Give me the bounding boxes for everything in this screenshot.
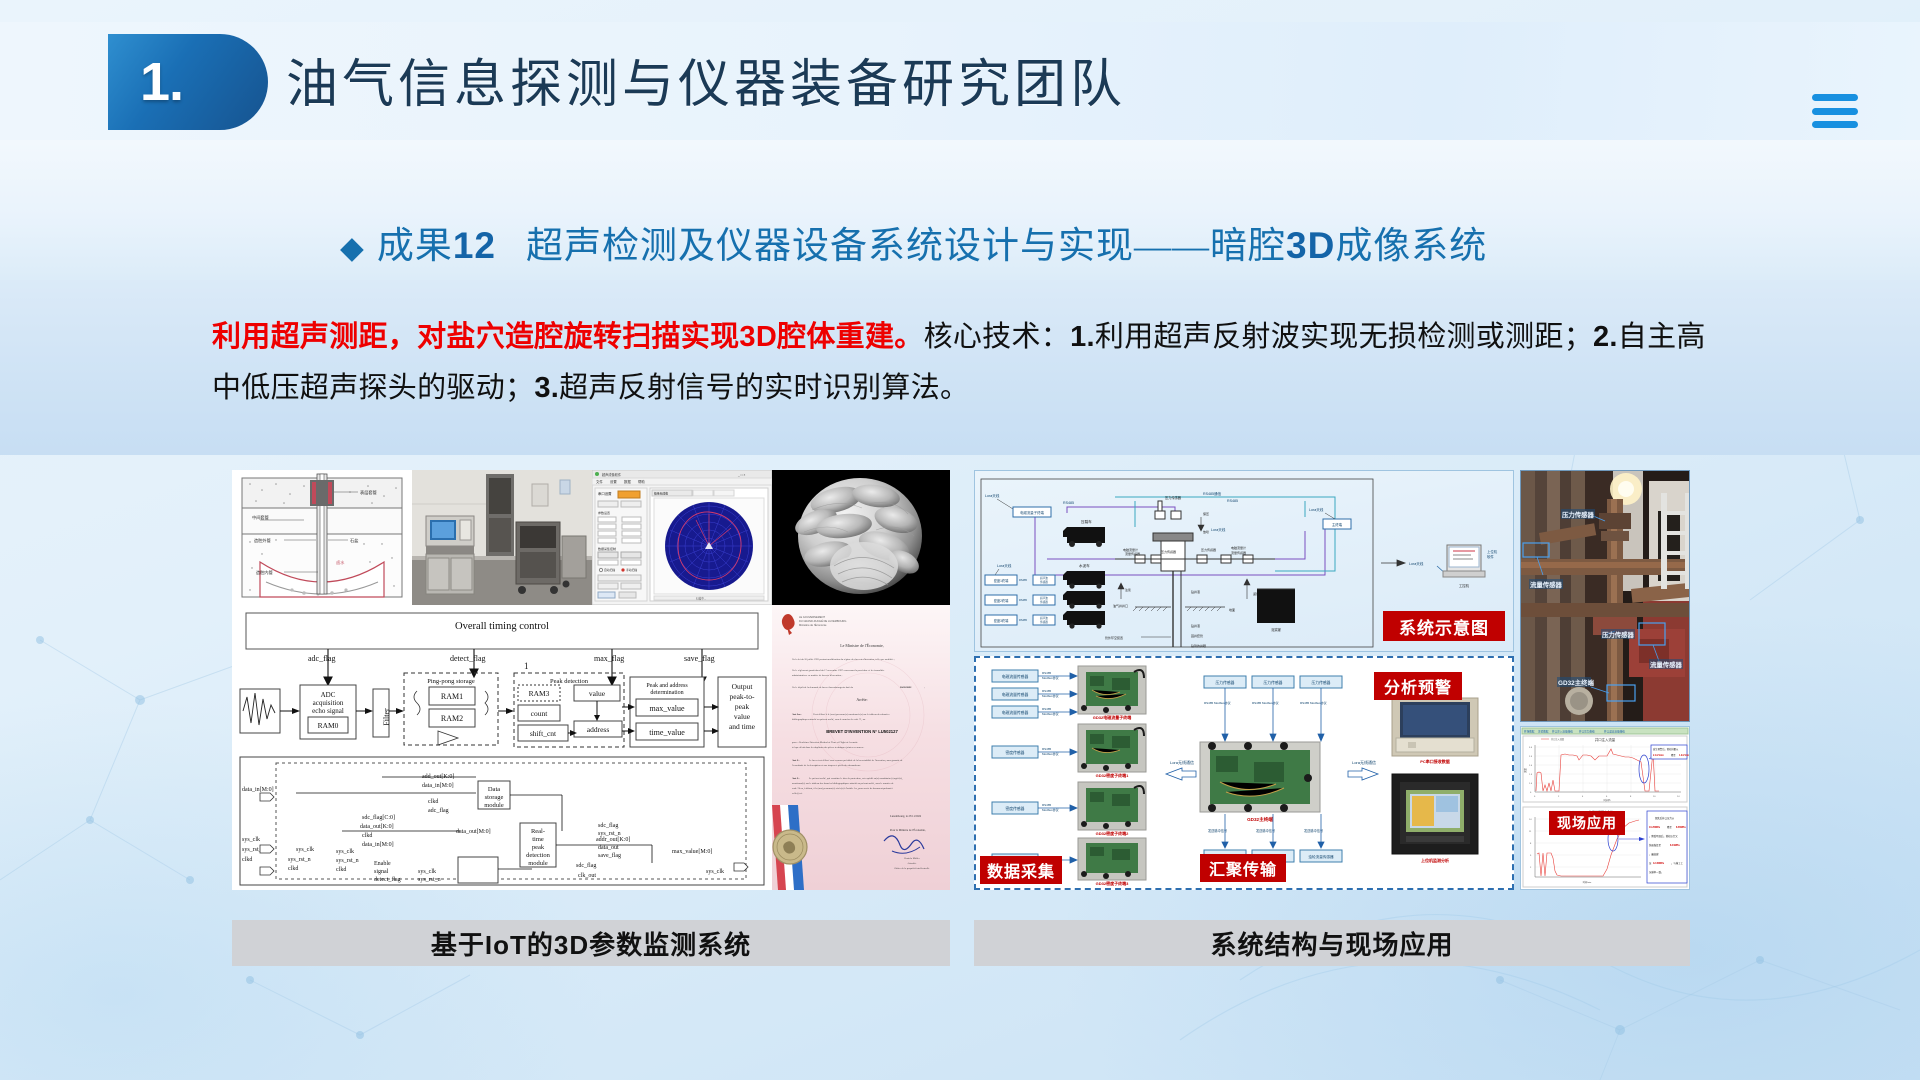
svg-text:数据采集控制: 数据采集控制 — [598, 546, 616, 551]
subtitle-label-number: 12 — [453, 225, 496, 266]
svg-text:密度1终端: 密度1终端 — [994, 578, 1009, 583]
svg-text:peak: peak — [532, 844, 545, 851]
svg-text:sys_rst_n: sys_rst_n — [418, 877, 441, 883]
svg-text:max_value: max_value — [649, 704, 685, 713]
svg-text:，降低明显后，管柱压力又: ，降低明显后，管柱压力又 — [1649, 834, 1678, 838]
svg-text:传感器: 传感器 — [1040, 620, 1048, 624]
svg-text:注浆数据: 注浆数据 — [1538, 730, 1549, 734]
page-title: 油气信息探测与仪器装备研究团队 — [286, 42, 1126, 117]
svg-text:tel que décrit dans les duplic: tel que décrit dans les duplicata des pi… — [792, 746, 865, 749]
svg-text:中间套管: 中间套管 — [252, 514, 269, 521]
svg-text:保压: 保压 — [1203, 511, 1209, 516]
svg-text:Attachée: Attachée — [908, 862, 918, 865]
scanning-software-polar-plot: 超声成像软件 _ □ × 文件设置数据帮助 串口设置 参数设置 — [592, 470, 772, 605]
svg-text:value: value — [589, 689, 606, 698]
svg-text:密度传感器: 密度传感器 — [1006, 806, 1025, 811]
svg-text:Daniela Müller: Daniela Müller — [904, 857, 919, 860]
svg-text:流量传感器: 流量传感器 — [1231, 550, 1246, 555]
svg-text:data_in[M:0]: data_in[M:0] — [242, 787, 274, 793]
svg-text:Output: Output — [732, 682, 754, 691]
svg-text:流量传感器: 流量传感器 — [1125, 551, 1140, 556]
svg-text:mentionné(s) sur le tableau de: mentionné(s) sur le tableau des données … — [792, 782, 894, 785]
svg-text:BREVET D'INVENTION N° LU502127: BREVET D'INVENTION N° LU502127 — [826, 729, 898, 734]
svg-text:压力传感器: 压力传感器 — [1562, 510, 1595, 519]
svg-text:RS485 Modbus协议: RS485 Modbus协议 — [1204, 700, 1231, 705]
left-panel-caption: 基于IoT的3D参数监测系统 — [232, 920, 950, 966]
svg-text:固井套管: 固井套管 — [1191, 633, 1203, 638]
svg-text:上位机: 上位机 — [1487, 549, 1498, 554]
subtitle-text-1: 超声检测及仪器设备系统设计与实现——暗腔 — [526, 226, 1286, 267]
svg-text:RS485: RS485 — [1019, 618, 1027, 622]
section-subtitle: ◆成果12超声检测及仪器设备系统设计与实现——暗腔3D成像系统 — [340, 215, 1487, 269]
svg-text:data_out[M:0]: data_out[M:0] — [456, 829, 491, 835]
svg-text:Lora无线通信: Lora无线通信 — [1170, 759, 1194, 765]
svg-text:文件: 文件 — [596, 479, 603, 484]
svg-text:storage: storage — [485, 794, 504, 801]
svg-text:RS485通信: RS485通信 — [1203, 491, 1222, 496]
svg-text:流量传感器: 流量传感器 — [1650, 660, 1683, 669]
svg-text:Ping-pong storage: Ping-pong storage — [427, 678, 475, 685]
system-schematic-diagram: Lora天线 RS485通信 RS485 RS485 Lora天线 电磁流量子终… — [974, 470, 1514, 652]
svg-text:泥浆罐: 泥浆罐 — [1271, 627, 1281, 632]
svg-text:况基本一致。: 况基本一致。 — [1649, 870, 1663, 874]
svg-text:clkd: clkd — [336, 867, 346, 873]
svg-text:RS485: RS485 — [1063, 501, 1074, 505]
right-panel-caption: 系统结构与现场应用 — [974, 920, 1690, 966]
svg-text:Lora天线: Lora天线 — [1409, 561, 1424, 566]
svg-text:密度3终端: 密度3终端 — [994, 618, 1009, 623]
svg-text:漏失后井口压力从: 漏失后井口压力从 — [1655, 816, 1675, 820]
svg-text:帮助: 帮助 — [638, 479, 645, 484]
svg-text:12.36MPa: 12.36MPa — [1653, 862, 1665, 865]
svg-text:sdc_flag[C:0]: sdc_flag[C:0] — [362, 814, 395, 821]
body-num-2: 2. — [1593, 321, 1618, 353]
svg-text:Vu le dépôt de la demande de b: Vu le dépôt de la demande de brevet luxe… — [792, 686, 854, 689]
svg-text:Real-: Real- — [531, 828, 545, 835]
lab-ultrasonic-test-rig-photo — [412, 470, 592, 605]
svg-text:count: count — [531, 709, 549, 718]
body-paragraph: 利用超声测距，对盐穴造腔旋转扫描实现3D腔体重建。核心技术：1.利用超声反射波实… — [212, 312, 1722, 414]
svg-text:RS485: RS485 — [1042, 689, 1052, 693]
svg-text:Data: Data — [488, 786, 500, 793]
body-num-3: 3. — [534, 372, 559, 404]
svg-text:sys_rst_n: sys_rst_n — [288, 857, 311, 863]
svg-text:max_value[M:0]: max_value[M:0] — [672, 849, 712, 855]
svg-text:time_value: time_value — [649, 728, 685, 737]
svg-text:determination: determination — [650, 690, 683, 696]
svg-text:bibliographiques attaché au pr: bibliographiques attaché au présent arrê… — [792, 718, 866, 721]
svg-text:油气井井口: 油气井井口 — [1113, 603, 1128, 608]
svg-text:电磁流量传感器: 电磁流量传感器 — [1002, 710, 1029, 715]
svg-text:Lora天线: Lora天线 — [997, 563, 1012, 568]
wellhead-field-photo: 压力传感器 流量传感器 压力传感器 流量传感器 GD32主终端 — [1520, 470, 1690, 722]
svg-text:RAM2: RAM2 — [441, 714, 463, 723]
svg-text:井口压力曲线: 井口压力曲线 — [1579, 730, 1595, 734]
svg-text:Peak detection: Peak detection — [550, 678, 589, 685]
svg-text:8.01MPa: 8.01MPa — [1670, 844, 1680, 847]
svg-text:module: module — [528, 860, 548, 867]
svg-text:acquisition: acquisition — [313, 699, 344, 707]
svg-text:value: value — [734, 712, 751, 721]
svg-text:Arrête:: Arrête: — [856, 697, 867, 702]
svg-text:电磁流量子终端: 电磁流量子终端 — [1020, 510, 1044, 515]
svg-text:超声波: 超声波 — [1040, 616, 1048, 620]
svg-text:sys_clk: sys_clk — [242, 837, 260, 843]
svg-text:电磁流量计: 电磁流量计 — [1231, 545, 1246, 550]
svg-text:快速恢复至: 快速恢复至 — [1649, 843, 1662, 847]
svg-text:Art. 1er.-: Art. 1er.- — [792, 713, 802, 716]
svg-text:sys_clk: sys_clk — [418, 869, 436, 875]
field-application-charts: 井场数据注浆数据 井口注入流量曲线井口压力曲线 井口返出流量曲线 井口注入流量 … — [1520, 726, 1690, 890]
section-number-badge: 1. — [108, 34, 268, 130]
svg-text:clkd: clkd — [428, 799, 438, 805]
svg-text:Art. 3.-: Art. 3.- — [792, 777, 800, 780]
svg-text:压力传感器: 压力传感器 — [1264, 680, 1283, 685]
svg-text:Lora无线通信: Lora无线通信 — [1352, 759, 1376, 765]
svg-text:GD32电磁流量子终端: GD32电磁流量子终端 — [1093, 714, 1131, 720]
svg-text:Il est délivré à le (aux) pers: Il est délivré à le (aux) personne(s) me… — [813, 713, 890, 716]
svg-text:time: time — [532, 836, 544, 843]
left-figure-panel: 表层套管 中间套管 造腔外管 石盐 造腔内管 卤水 — [232, 470, 950, 890]
svg-text:上位机监测分析: 上位机监测分析 — [1421, 857, 1449, 863]
svg-text:data_out: data_out — [598, 845, 619, 851]
hamburger-menu-icon[interactable] — [1812, 94, 1858, 128]
svg-text:RS485: RS485 — [1019, 578, 1027, 582]
fpga-block-diagram: Overall timing control adc_flag detect_f… — [232, 605, 772, 890]
svg-text:Peak and address: Peak and address — [646, 683, 688, 689]
svg-text:井口注入流量: 井口注入流量 — [1595, 737, 1616, 742]
svg-text:address: address — [587, 725, 610, 734]
svg-text:参数设置: 参数设置 — [598, 510, 610, 515]
svg-text:表层套管: 表层套管 — [360, 489, 377, 496]
body-num-1: 1. — [1070, 321, 1095, 353]
svg-text:卤水: 卤水 — [336, 559, 345, 566]
svg-text:钻到的井眼: 钻到的井眼 — [1191, 643, 1206, 648]
svg-text:超声成像软件: 超声成像软件 — [602, 472, 622, 477]
svg-text:Office de la propriété intelle: Office de la propriété intellectuelle — [895, 867, 931, 870]
svg-text:administratives en matière de: administratives en matière de brevets d'… — [792, 674, 843, 677]
svg-text:Enable: Enable — [374, 861, 391, 867]
svg-text:自动扫描: 自动扫描 — [604, 568, 615, 572]
svg-text:clk_out: clk_out — [578, 873, 596, 879]
svg-text:密度传感器: 密度传感器 — [1006, 750, 1025, 755]
svg-text:echo signal: echo signal — [312, 707, 344, 715]
svg-text:造腔内管: 造腔内管 — [256, 569, 273, 576]
svg-text:detection: detection — [526, 852, 551, 859]
svg-text:save_flag: save_flag — [684, 654, 715, 663]
svg-text:软件: 软件 — [1487, 554, 1494, 559]
svg-text:造腔外管: 造腔外管 — [254, 537, 271, 544]
svg-text:串口设置: 串口设置 — [598, 491, 612, 496]
svg-text:detect_flag: detect_flag — [450, 654, 486, 663]
svg-text:压力传感器: 压力传感器 — [1216, 680, 1235, 685]
svg-text:RAM3: RAM3 — [529, 689, 550, 698]
svg-text:Art. 2.-: Art. 2.- — [792, 759, 800, 762]
svg-text:clkd: clkd — [242, 857, 252, 863]
svg-text:数据: 数据 — [624, 479, 631, 484]
svg-text:max_flag: max_flag — [594, 654, 624, 663]
svg-text:时间/h: 时间/h — [1604, 798, 1611, 802]
charts-red-label-field-application: 现场应用 — [1549, 811, 1625, 835]
subtitle-text-2: 成像系统 — [1335, 226, 1487, 267]
svg-text:流量: 流量 — [1523, 768, 1527, 773]
patent-certificate-image: LE GOUVERNEMENT DU GRAND-DUCHÉ DE LUXEMB… — [772, 605, 950, 890]
svg-text:save_flag: save_flag — [598, 852, 621, 859]
svg-text:RS485: RS485 — [1042, 747, 1052, 751]
svg-text:RS485 Modbus协议: RS485 Modbus协议 — [1252, 700, 1279, 705]
svg-text:ADC: ADC — [321, 691, 336, 699]
svg-text:电磁流量传感器: 电磁流量传感器 — [1002, 674, 1029, 679]
acq-red-label-collect: 数据采集 — [980, 856, 1062, 884]
svg-text:GD32主终端: GD32主终端 — [1247, 816, 1273, 823]
svg-text:压力传感器: 压力传感器 — [1165, 495, 1182, 500]
salt-cavern-well-diagram: 表层套管 中间套管 造腔外管 石盐 造腔内管 卤水 — [232, 470, 412, 605]
svg-text:Lora天线: Lora天线 — [1309, 507, 1324, 512]
svg-text:adc_flag: adc_flag — [308, 654, 336, 663]
svg-text:注浆: 注浆 — [1125, 587, 1131, 592]
svg-text:addr_out[K:0]: addr_out[K:0] — [596, 837, 630, 843]
svg-text:RS485: RS485 — [1042, 707, 1052, 711]
svg-text:水泥车: 水泥车 — [1079, 563, 1090, 568]
svg-text:adc_flag: adc_flag — [428, 807, 449, 814]
svg-text:发送脉冲信号: 发送脉冲信号 — [1208, 828, 1227, 833]
svg-text:GD32密度子终端1: GD32密度子终端1 — [1096, 772, 1129, 778]
svg-text:sdc_flag: sdc_flag — [576, 862, 596, 869]
svg-text:10.25MPa: 10.25MPa — [1649, 826, 1661, 829]
svg-text:压裂车: 压裂车 — [1081, 519, 1092, 524]
svg-text:RS485: RS485 — [1227, 499, 1238, 503]
svg-text:8.65MPa: 8.65MPa — [1676, 826, 1686, 829]
body-rest-1: 核心技术： — [924, 321, 1071, 353]
svg-text:井口返出流量曲线: 井口返出流量曲线 — [1604, 730, 1625, 734]
svg-text:扫描中…: 扫描中… — [696, 597, 707, 601]
svg-text:极坐标成像: 极坐标成像 — [654, 492, 668, 496]
svg-text:压力传感器: 压力传感器 — [1161, 549, 1176, 554]
acq-red-label-transmit: 汇聚传输 — [1200, 854, 1286, 882]
svg-text:压力传感器: 压力传感器 — [1312, 680, 1331, 685]
svg-text:超声波: 超声波 — [1040, 596, 1048, 600]
svg-text:Vu le règlement grand-ducal du: Vu le règlement grand-ducal du 17 novemb… — [792, 669, 884, 672]
body-item-1: 利用超声反射波实现无损检测或测距； — [1095, 321, 1593, 353]
three-d-cavity-render — [772, 470, 950, 605]
svg-text:Pour le Ministre de l'Économie: Pour le Ministre de l'Économie, — [890, 829, 926, 832]
svg-text:module: module — [484, 802, 504, 809]
svg-text:钻井液: 钻井液 — [1191, 623, 1200, 628]
svg-text:data_in[M:0]: data_in[M:0] — [362, 842, 394, 848]
svg-text:传感器: 传感器 — [1040, 600, 1048, 604]
svg-text:RS485 Modbus协议: RS485 Modbus协议 — [1300, 700, 1327, 705]
svg-text:20/05/2022: 20/05/2022 — [900, 686, 912, 689]
svg-text:超声波: 超声波 — [1040, 576, 1048, 580]
diamond-bullet-icon: ◆ — [340, 230, 365, 265]
svg-text:sys_rst_n: sys_rst_n — [336, 858, 359, 864]
svg-text:降至: 降至 — [1667, 825, 1672, 829]
svg-text:shift_cnt: shift_cnt — [530, 729, 557, 738]
svg-text:sys_rst_n: sys_rst_n — [598, 831, 621, 837]
svg-text:GD32主终端: GD32主终端 — [1558, 678, 1594, 687]
schematic-red-label: 系统示意图 — [1383, 611, 1505, 641]
svg-text:GD32密度子终端3: GD32密度子终端3 — [1096, 880, 1129, 886]
svg-text:RAM1: RAM1 — [441, 692, 463, 701]
svg-text:，与施工工: ，与施工工 — [1671, 861, 1684, 865]
left-image-strip: 表层套管 中间套管 造腔外管 石盐 造腔内管 卤水 — [232, 470, 950, 605]
svg-text:LE GOUVERNEMENT: LE GOUVERNEMENT — [799, 615, 826, 619]
svg-text:传感器: 传感器 — [1040, 580, 1048, 584]
svg-text:pour « Real-time Detection Met: pour « Real-time Detection Method of Tim… — [792, 741, 858, 744]
svg-text:sys_clk: sys_clk — [296, 847, 314, 853]
svg-text:RAM0: RAM0 — [318, 721, 339, 730]
svg-text:手动扫描: 手动扫描 — [626, 568, 637, 572]
svg-text:code 74 ou, à défaut, à le (au: code 74 ou, à défaut, à le (aux) personn… — [792, 787, 894, 790]
slide-header: 1. 油气信息探测与仪器装备研究团队 — [0, 22, 1920, 140]
svg-text:管外环空装置: 管外环空装置 — [1105, 635, 1123, 640]
svg-text:Lora天线: Lora天线 — [1211, 527, 1226, 532]
svg-text:井场数据: 井场数据 — [1524, 730, 1535, 734]
svg-text:clkd: clkd — [362, 833, 372, 839]
section-number: 1. — [140, 55, 183, 109]
svg-text:signal: signal — [374, 869, 389, 875]
svg-text:井口注入流量曲线: 井口注入流量曲线 — [1552, 730, 1573, 734]
body-item-3: 超声反射信号的实时识别算法。 — [559, 372, 969, 404]
svg-text:1: 1 — [524, 661, 529, 671]
svg-text:l'exactitude de la description: l'exactitude de la description et aux ri… — [792, 764, 861, 767]
svg-text:主终端: 主终端 — [1332, 522, 1343, 527]
svg-text:sdc_flag: sdc_flag — [598, 822, 618, 829]
svg-text:and time: and time — [729, 722, 756, 731]
svg-text:Overall timing control: Overall timing control — [455, 621, 549, 632]
svg-text:放喷: 放喷 — [1203, 529, 1209, 534]
svg-text:钻井液: 钻井液 — [1191, 589, 1200, 594]
svg-text:data_out[K:0]: data_out[K:0] — [360, 824, 394, 830]
svg-text:浊轮流量传感器: 浊轮流量传感器 — [1308, 854, 1334, 859]
svg-text:sys_clk: sys_clk — [336, 849, 354, 855]
svg-text:_ □ ×: _ □ × — [737, 473, 745, 477]
svg-text:Le brevet est délivré sans exa: Le brevet est délivré sans examen préala… — [809, 759, 903, 762]
svg-text:data_in[M:0]: data_in[M:0] — [422, 783, 454, 789]
svg-text:地面: 地面 — [1229, 607, 1235, 612]
acq-red-label-analysis: 分析预警 — [1374, 672, 1462, 700]
svg-text:GD32密度子终端2: GD32密度子终端2 — [1096, 830, 1129, 836]
svg-text:流量传感器: 流量传感器 — [1530, 580, 1563, 589]
svg-text:RS485: RS485 — [1042, 803, 1052, 807]
svg-text:detect_flag: detect_flag — [374, 876, 401, 883]
subtitle-label-prefix: 成果 — [377, 226, 453, 267]
svg-text:Luxembourg, le 25/11/2022: Luxembourg, le 25/11/2022 — [890, 815, 922, 818]
svg-text:RS485: RS485 — [1042, 671, 1052, 675]
body-highlight: 利用超声测距，对盐穴造腔旋转扫描实现3D腔体重建。 — [212, 321, 924, 353]
svg-text:密度2终端: 密度2终端 — [994, 598, 1009, 603]
svg-text:peak-to-: peak-to- — [730, 692, 755, 701]
svg-text:工控机: 工控机 — [1459, 583, 1470, 588]
iot-acquisition-architecture-diagram: 电磁流量传感器 电磁流量传感器 电磁流量传感器 密度传感器 密度传感器 密度传感… — [974, 656, 1514, 890]
svg-text:sys_clk: sys_clk — [706, 869, 724, 875]
svg-text:，最高建: ，最高建 — [1649, 852, 1659, 856]
svg-text:设置: 设置 — [610, 479, 617, 484]
svg-text:电磁流量传感器: 电磁流量传感器 — [1002, 692, 1029, 697]
svg-text:石盐: 石盐 — [350, 537, 358, 544]
subtitle-text-bold: 3D — [1286, 225, 1335, 266]
svg-text:clkd: clkd — [288, 866, 298, 872]
svg-text:celle(s)-ci.: celle(s)-ci. — [792, 792, 803, 795]
svg-text:压力传感器: 压力传感器 — [1201, 547, 1216, 552]
svg-text:RS485: RS485 — [1019, 598, 1027, 602]
svg-text:Le présent arrêté, qui constit: Le présent arrêté, qui constitue le titr… — [809, 777, 903, 780]
svg-text:压力传感器: 压力传感器 — [1602, 630, 1635, 639]
svg-text:发送脉冲信号: 发送脉冲信号 — [1304, 828, 1323, 833]
right-figure-panel: Lora天线 RS485通信 RS485 RS485 Lora天线 电磁流量子终… — [974, 470, 1690, 890]
svg-text:Lora天线: Lora天线 — [985, 493, 1000, 498]
svg-text:PC串口接收数据: PC串口接收数据 — [1420, 758, 1450, 764]
svg-text:peak: peak — [735, 702, 749, 711]
svg-text:Vu la loi du 20 juillet 1992 p: Vu la loi du 20 juillet 1992 portant mod… — [792, 658, 895, 661]
svg-text:发送脉冲信号: 发送脉冲信号 — [1256, 828, 1275, 833]
